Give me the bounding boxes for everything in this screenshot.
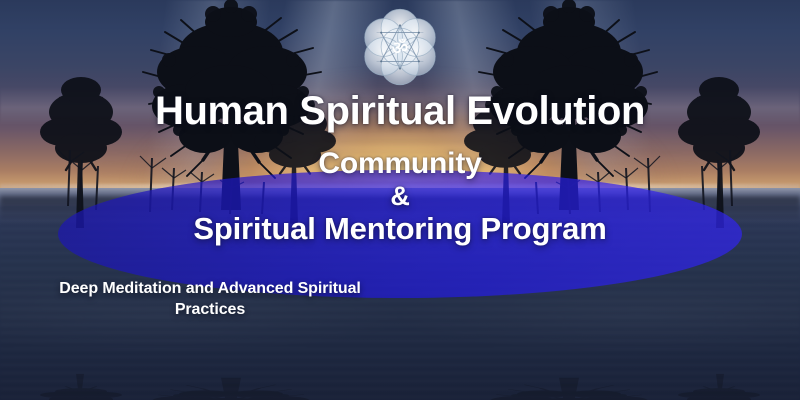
subtitle-ampersand: & — [0, 181, 800, 211]
banner-content: ॐ Human Spiritual Evolution Community & … — [0, 0, 800, 400]
subtitle-line-mentoring-program: Spiritual Mentoring Program — [0, 211, 800, 247]
subtitle-line-community: Community — [318, 147, 481, 180]
tagline-line-2: Practices — [175, 301, 245, 318]
page-title: Human Spiritual Evolution — [0, 90, 800, 132]
tagline: Deep Meditation and Advanced Spiritual P… — [0, 278, 420, 321]
tagline-line-1: Deep Meditation and Advanced Spiritual — [59, 280, 360, 297]
promotional-banner: ॐ Human Spiritual Evolution Community & … — [0, 0, 800, 400]
seed-of-life-om-logo-icon: ॐ — [355, 2, 445, 92]
title-block: Human Spiritual Evolution Community & Sp… — [0, 92, 800, 321]
subtitle-block: Community & Spiritual Mentoring Program — [0, 146, 800, 248]
om-glyph: ॐ — [392, 38, 408, 59]
